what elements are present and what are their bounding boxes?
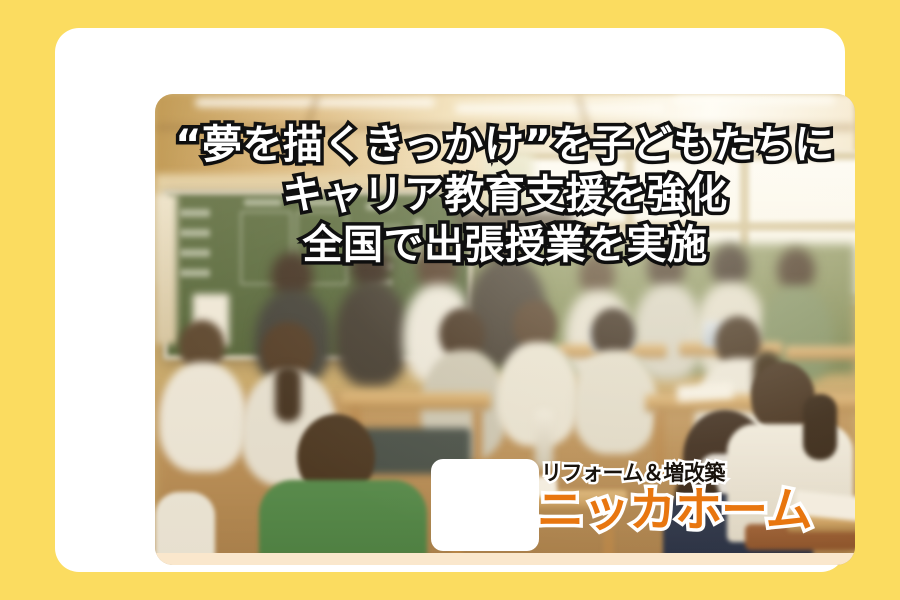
ceiling-light [455,104,665,113]
teacher-arm [455,212,575,228]
classroom-photo: “夢を描くきっかけ”を子どもたちに キャリア教育支援を強化 全国で出張授業を実施 [155,94,855,565]
student [335,282,409,386]
wall-cabinet [155,194,177,344]
rabbit-mascot [431,459,539,551]
page-root: “夢を描くきっかけ”を子どもたちに キャリア教育支援を強化 全国で出張授業を実施 [0,0,900,600]
mascot-sticker-background [431,459,539,551]
window-frame [515,152,855,160]
company-logo[interactable]: リフォーム＆増改築 ニッカホーム [431,453,801,557]
student [159,362,247,472]
ponytail [275,366,301,422]
white-card: “夢を描くきっかけ”を子どもたちに キャリア教育支援を強化 全国で出張授業を実施 [55,28,845,572]
logo-brand-name: ニッカホーム [537,483,812,539]
ceiling-beam [155,124,855,131]
desk [341,392,491,410]
desk [785,346,855,360]
ponytail [803,394,837,460]
ceiling-light [675,96,835,104]
logo-wordmark: リフォーム＆増改築 ニッカホーム [535,453,801,557]
logo-tagline: リフォーム＆増改築 [541,461,725,485]
